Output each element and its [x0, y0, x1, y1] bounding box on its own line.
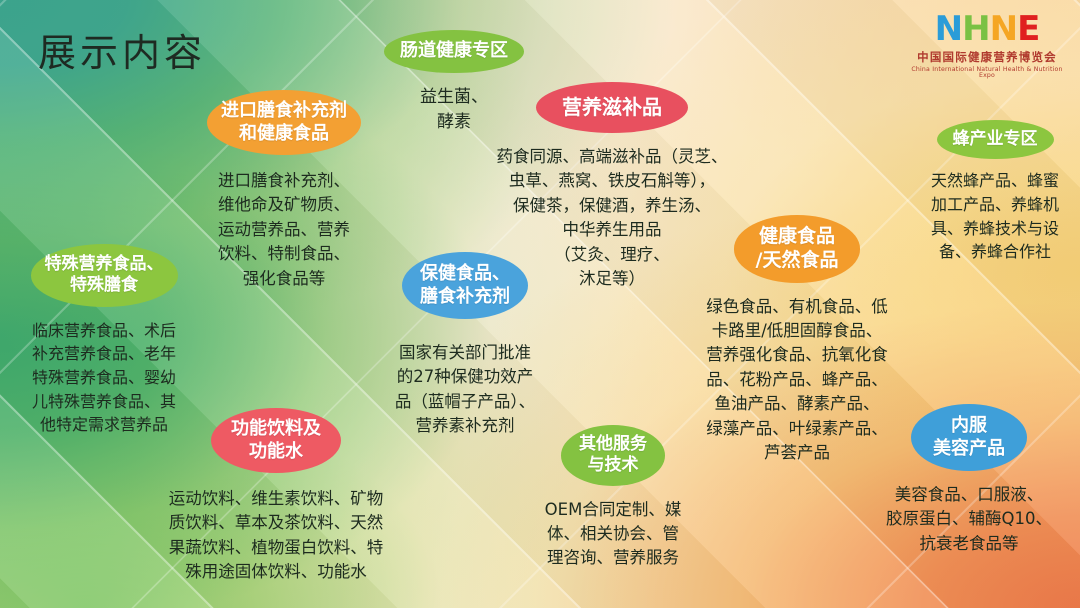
- logo-english-name: China International Natural Health & Nut…: [908, 67, 1066, 79]
- pill-wrap-bee-industry: 蜂产业专区: [910, 120, 1080, 159]
- block-other-services: 其他服务 与技术 OEM合同定制、媒 体、相关协会、管 理咨询、营养服务: [528, 425, 698, 571]
- pill-wrap-functional-drinks: 功能饮料及 功能水: [140, 408, 412, 473]
- nhne-logo: NHNE 中国国际健康营养博览会 China International Nat…: [908, 12, 1066, 79]
- pill-functional-drinks[interactable]: 功能饮料及 功能水: [211, 408, 341, 473]
- pill-wrap-health-foods-supplements: 保健食品、 膳食补充剂: [368, 252, 562, 319]
- pill-wrap-special-nutrition-foods: 特殊营养食品、 特殊膳食: [8, 244, 200, 307]
- logo-letter-e: E: [1017, 12, 1039, 46]
- pill-wrap-other-services: 其他服务 与技术: [528, 425, 698, 486]
- block-bee-industry: 蜂产业专区 天然蜂产品、蜂蜜 加工产品、养蜂机 具、养蜂技术与设 备、养蜂合作社: [910, 120, 1080, 264]
- block-oral-beauty: 内服 美容产品 美容食品、口服液、 胶原蛋白、辅酶Q10、 抗衰老食品等: [866, 404, 1072, 556]
- pill-bee-industry[interactable]: 蜂产业专区: [937, 120, 1054, 159]
- logo-letter-h: H: [962, 12, 989, 46]
- pill-healthy-natural-foods[interactable]: 健康食品 /天然食品: [734, 215, 861, 283]
- body-bee-industry: 天然蜂产品、蜂蜜 加工产品、养蜂机 具、养蜂技术与设 备、养蜂合作社: [910, 169, 1080, 264]
- body-functional-drinks: 运动饮料、维生素饮料、矿物 质饮料、草本及茶饮料、天然 果蔬饮料、植物蛋白饮料、…: [140, 487, 412, 585]
- logo-letter-n2: N: [990, 12, 1017, 46]
- body-oral-beauty: 美容食品、口服液、 胶原蛋白、辅酶Q10、 抗衰老食品等: [866, 483, 1072, 556]
- pill-wrap-imported-supplements: 进口膳食补充剂 和健康食品: [186, 90, 382, 155]
- body-other-services: OEM合同定制、媒 体、相关协会、管 理咨询、营养服务: [528, 498, 698, 571]
- pill-wrap-intestinal-health: 肠道健康专区: [368, 30, 540, 73]
- block-functional-drinks: 功能饮料及 功能水 运动饮料、维生素饮料、矿物 质饮料、草本及茶饮料、天然 果蔬…: [140, 408, 412, 585]
- logo-chinese-name: 中国国际健康营养博览会: [908, 52, 1066, 64]
- pill-special-nutrition-foods[interactable]: 特殊营养食品、 特殊膳食: [31, 244, 178, 307]
- pill-nutrition-tonics[interactable]: 营养滋补品: [536, 82, 688, 133]
- pill-other-services[interactable]: 其他服务 与技术: [561, 425, 665, 486]
- logo-letter-n1: N: [935, 12, 962, 46]
- pill-intestinal-health[interactable]: 肠道健康专区: [384, 30, 524, 73]
- pill-imported-supplements[interactable]: 进口膳食补充剂 和健康食品: [207, 90, 361, 155]
- block-imported-supplements: 进口膳食补充剂 和健康食品 进口膳食补充剂、 维他命及矿物质、 运动营养品、营养…: [186, 90, 382, 291]
- slide-canvas: 展示内容 NHNE 中国国际健康营养博览会 China Internationa…: [0, 0, 1080, 608]
- pill-wrap-oral-beauty: 内服 美容产品: [866, 404, 1072, 471]
- pill-wrap-nutrition-tonics: 营养滋补品: [474, 82, 750, 133]
- page-title: 展示内容: [38, 22, 206, 77]
- body-imported-supplements: 进口膳食补充剂、 维他命及矿物质、 运动营养品、营养 饮料、特制食品、 强化食品…: [186, 169, 382, 291]
- pill-wrap-healthy-natural-foods: 健康食品 /天然食品: [672, 215, 922, 283]
- logo-wordmark: NHNE: [908, 12, 1066, 46]
- pill-oral-beauty[interactable]: 内服 美容产品: [911, 404, 1027, 471]
- pill-health-foods-supplements[interactable]: 保健食品、 膳食补充剂: [402, 252, 528, 319]
